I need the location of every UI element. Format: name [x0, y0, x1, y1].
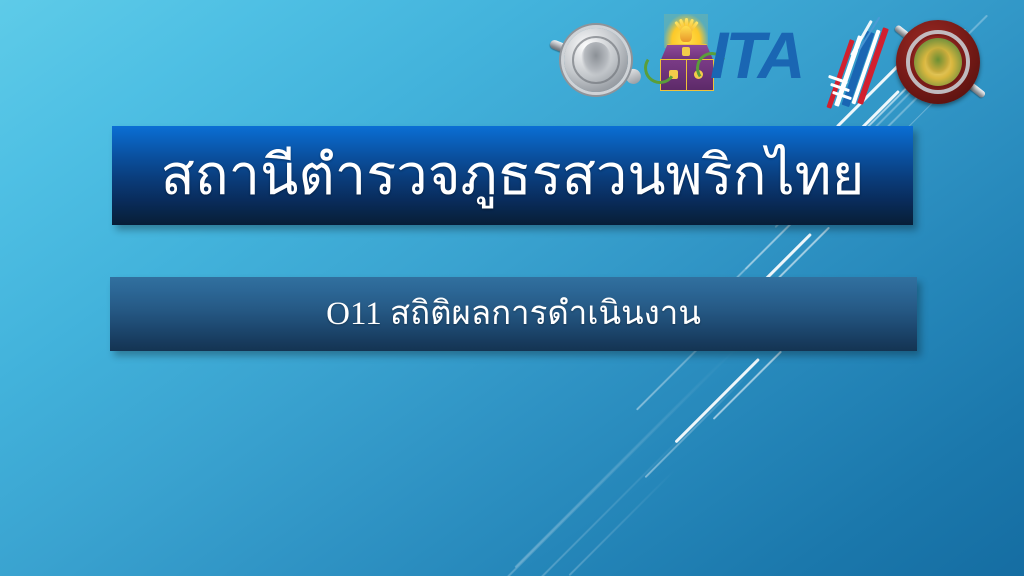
shield-glyph — [682, 47, 690, 56]
streak-line — [569, 469, 676, 576]
streak-line — [458, 343, 742, 576]
page-subtitle: O11 สถิติผลการดำเนินงาน — [326, 298, 701, 331]
slide-subtitle-bar: O11 สถิติผลการดำเนินงาน — [110, 277, 917, 351]
streak-line — [515, 355, 728, 568]
emblem-row: ITA — [520, 0, 1020, 120]
seal-center-emblem — [914, 38, 962, 86]
streak-line — [713, 351, 782, 420]
silver-police-medallion-icon — [545, 12, 643, 108]
ita-wordmark: ITA — [710, 22, 802, 88]
crown-finial — [680, 26, 692, 42]
provincial-police-seal-icon — [890, 14, 986, 110]
slide-title-bar: สถานีตำรวจภูธรสวนพริกไทย — [112, 126, 913, 225]
streak-line — [645, 371, 752, 478]
streak-line — [515, 419, 700, 576]
page-title: สถานีตำรวจภูธรสวนพริกไทย — [161, 148, 865, 204]
medallion-disc — [564, 28, 628, 92]
presentation-slide: ITA สถานีตำรวจภูธรสวนพริกไทย O11 สถิติผล… — [0, 0, 1024, 576]
ita-logo: ITA — [710, 20, 900, 100]
streak-line — [674, 358, 760, 444]
